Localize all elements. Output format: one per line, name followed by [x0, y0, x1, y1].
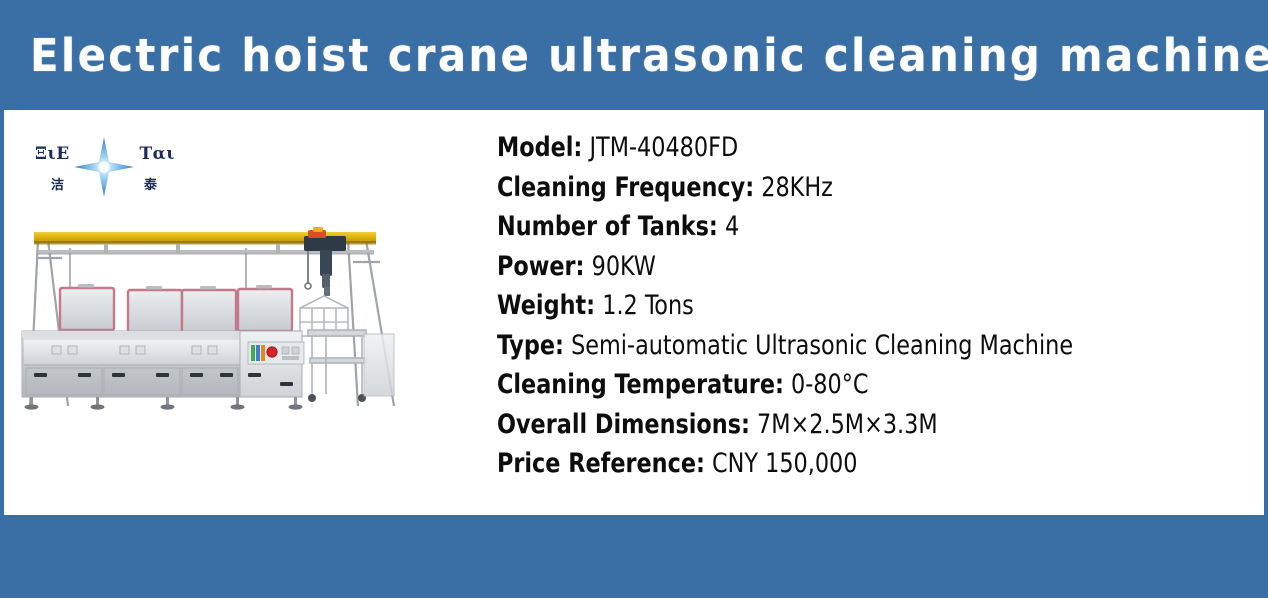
product-spec-card: Electric hoist crane ultrasonic cleaning… — [0, 0, 1268, 598]
four-point-star-icon — [73, 136, 135, 198]
logo-text-right: Tαι — [140, 144, 175, 164]
spec-row-cleaning-temperature: Cleaning Temperature: 0-80°C — [497, 365, 1195, 405]
spec-label: Power: — [497, 251, 585, 282]
spec-value: Semi-automatic Ultrasonic Cleaning Machi… — [571, 330, 1073, 361]
spec-label: Cleaning Frequency: — [497, 172, 754, 203]
specification-column: Model: JTM-40480FD Cleaning Frequency: 2… — [474, 110, 1264, 515]
logo-text-left: ΞιE — [35, 144, 70, 164]
spec-value: JTM-40480FD — [589, 132, 738, 163]
logo-chinese-left: 洁 — [51, 174, 64, 193]
spec-label: Number of Tanks: — [497, 211, 718, 242]
brand-logo: ΞιE Tαι 洁 泰 — [29, 132, 179, 200]
control-panel — [248, 342, 304, 364]
spec-row-power: Power: 90KW — [497, 247, 1195, 287]
spec-row-model: Model: JTM-40480FD — [497, 128, 1195, 168]
spec-row-price-reference: Price Reference: CNY 150,000 — [497, 444, 1195, 484]
spec-row-number-of-tanks: Number of Tanks: 4 — [497, 207, 1195, 247]
header-band: Electric hoist crane ultrasonic cleaning… — [0, 0, 1268, 110]
footer-band — [0, 515, 1268, 598]
product-photo — [8, 218, 408, 423]
spec-value: 0-80°C — [791, 369, 868, 400]
spec-label: Type: — [497, 330, 564, 361]
specification-list: Model: JTM-40480FD Cleaning Frequency: 2… — [497, 128, 1256, 484]
logo-chinese-right: 泰 — [144, 174, 157, 193]
spec-label: Cleaning Temperature: — [497, 369, 784, 400]
spec-row-cleaning-frequency: Cleaning Frequency: 28KHz — [497, 168, 1195, 208]
spec-row-overall-dimensions: Overall Dimensions: 7M×2.5M×3.3M — [497, 405, 1195, 445]
spec-value: CNY 150,000 — [712, 448, 857, 479]
page-title: Electric hoist crane ultrasonic cleaning… — [30, 29, 1268, 82]
spec-value: 90KW — [592, 251, 656, 282]
spec-label: Price Reference: — [497, 448, 705, 479]
spec-label: Weight: — [497, 290, 595, 321]
tank-lids — [60, 284, 292, 332]
spec-value: 28KHz — [761, 172, 833, 203]
content-card: ΞιE Tαι 洁 泰 — [4, 110, 1264, 515]
emergency-stop-button — [267, 347, 277, 357]
product-image-column: ΞιE Tαι 洁 泰 — [4, 110, 474, 515]
spec-value: 1.2 Tons — [602, 290, 694, 321]
spec-row-weight: Weight: 1.2 Tons — [497, 286, 1195, 326]
spec-value: 7M×2.5M×3.3M — [757, 409, 938, 440]
spec-value: 4 — [725, 211, 739, 242]
spec-label: Overall Dimensions: — [497, 409, 750, 440]
spec-label: Model: — [497, 132, 582, 163]
spec-row-type: Type: Semi-automatic Ultrasonic Cleaning… — [497, 326, 1195, 366]
